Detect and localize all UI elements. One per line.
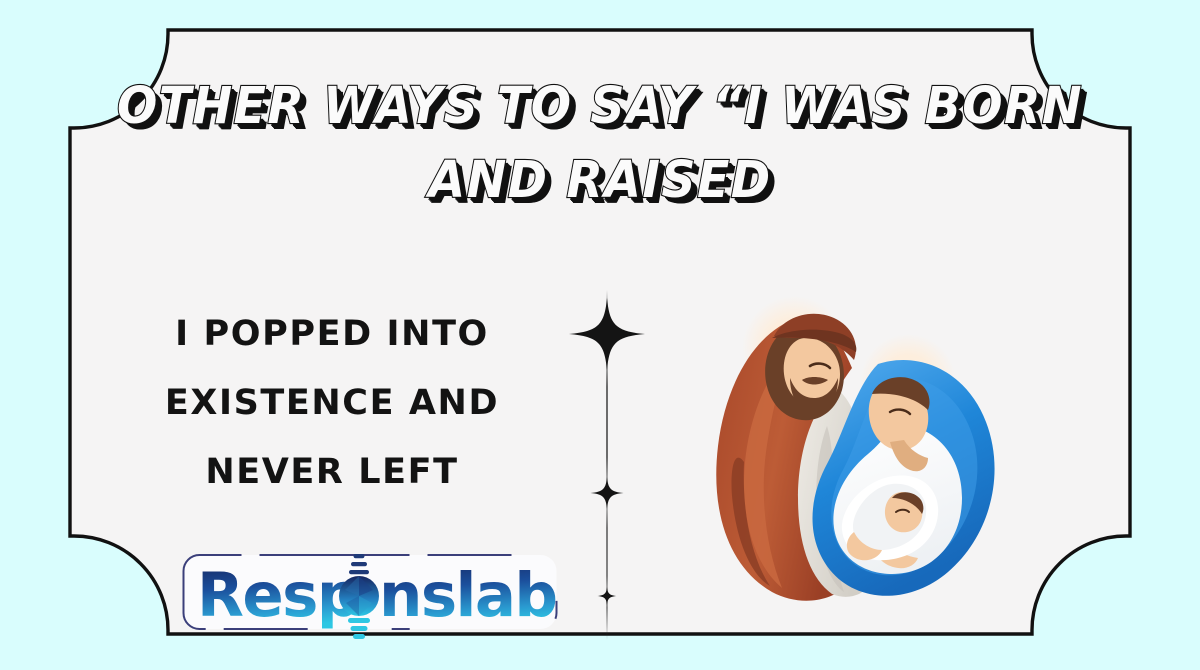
title-line-1: OTHER WAYS TO SAY “I WAS BORN (105, 70, 1095, 144)
quote-line-1: I POPPED INTO (106, 300, 558, 369)
quote-line-2: EXISTENCE AND (106, 369, 558, 438)
holy-family-nativity-illustration (686, 276, 1026, 616)
sparkle-star-divider (562, 290, 652, 640)
title-line-2: AND RAISED (105, 144, 1095, 218)
card-content: OTHER WAYS TO SAY “I WAS BORN AND RAISED… (68, 28, 1132, 636)
logo-wordmark-2: nslab (379, 560, 556, 631)
responslab-logo[interactable]: Resp nslab (181, 540, 559, 644)
sparkle-star-medium (591, 477, 624, 509)
quote-text: I POPPED INTO EXISTENCE AND NEVER LEFT (106, 300, 558, 507)
logo-wordmark: Resp (197, 560, 359, 631)
sparkle-star-small (598, 587, 617, 605)
sparkle-star-large (569, 298, 645, 370)
quote-card: OTHER WAYS TO SAY “I WAS BORN AND RAISED… (68, 28, 1132, 636)
screenshot-canvas: OTHER WAYS TO SAY “I WAS BORN AND RAISED… (0, 0, 1200, 670)
quote-line-3: NEVER LEFT (106, 438, 558, 507)
page-title: OTHER WAYS TO SAY “I WAS BORN AND RAISED (68, 70, 1132, 218)
